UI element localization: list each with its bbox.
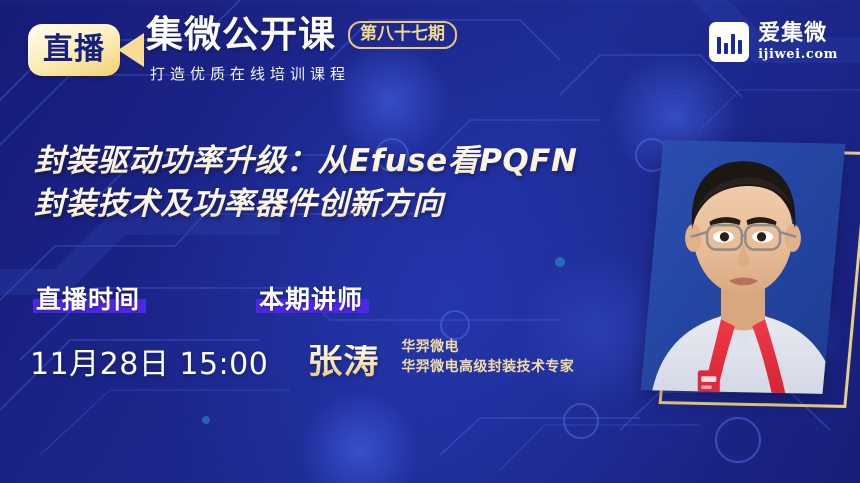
speaker-label: 本期讲师 (259, 286, 363, 314)
speaker-meta: 华羿微电 华羿微电高级封装技术专家 (401, 337, 574, 381)
issue-badge: 第八十七期 (348, 21, 457, 49)
speaker-name: 张涛 (307, 345, 379, 380)
time-label-text: 直播时间 (36, 285, 140, 314)
ijiwei-bars-logo-icon (709, 22, 749, 62)
brand-title: 集微公开课 (146, 16, 336, 53)
title-line-1: 封装驱动功率升级：从Efuse看PQFN (34, 140, 654, 183)
title-line-2: 封装技术及功率器件创新方向 (34, 183, 654, 226)
speaker-photo-frame (641, 140, 845, 394)
session-info-values: 11月28日 15:00 张涛 华羿微电 华羿微电高级封装技术专家 (30, 337, 640, 381)
glow-dot-3 (300, 390, 420, 483)
brand-title-row: 集微公开课 第八十七期 (146, 16, 616, 53)
live-badge: 直播 (28, 24, 144, 76)
site-logo: 爱集微 ijiwei.com (709, 22, 838, 62)
poster-header: 直播 集微公开课 第八十七期 打造优质在线培训课程 爱集微 ijiwei.com (0, 0, 860, 110)
speaker-company: 华羿微电 (401, 337, 574, 357)
site-logo-name-cn: 爱集微 (758, 23, 838, 45)
speaker-photo (641, 140, 845, 394)
speaker-label-text: 本期讲师 (259, 285, 363, 314)
triangle-left-icon (118, 33, 144, 67)
brand-subtitle: 打造优质在线培训课程 (150, 63, 616, 84)
time-label: 直播时间 (36, 286, 140, 314)
brand-block: 集微公开课 第八十七期 打造优质在线培训课程 (146, 16, 616, 84)
live-badge-pill: 直播 (28, 24, 120, 76)
top-edge-strip (0, 0, 860, 3)
site-logo-name-en: ijiwei.com (758, 48, 838, 61)
live-badge-label: 直播 (43, 35, 105, 65)
live-course-poster: 直播 集微公开课 第八十七期 打造优质在线培训课程 爱集微 ijiwei.com… (0, 0, 860, 483)
session-info-labels: 直播时间 本期讲师 (30, 286, 640, 314)
page-title: 封装驱动功率升级：从Efuse看PQFN 封装技术及功率器件创新方向 (34, 140, 654, 226)
live-datetime: 11月28日 15:00 (30, 350, 268, 380)
speaker-job-title: 华羿微电高级封装技术专家 (401, 357, 574, 377)
session-info: 直播时间 本期讲师 11月28日 15:00 张涛 华羿微电 华羿微电高级封装技… (30, 286, 640, 380)
site-logo-text: 爱集微 ijiwei.com (758, 23, 838, 61)
